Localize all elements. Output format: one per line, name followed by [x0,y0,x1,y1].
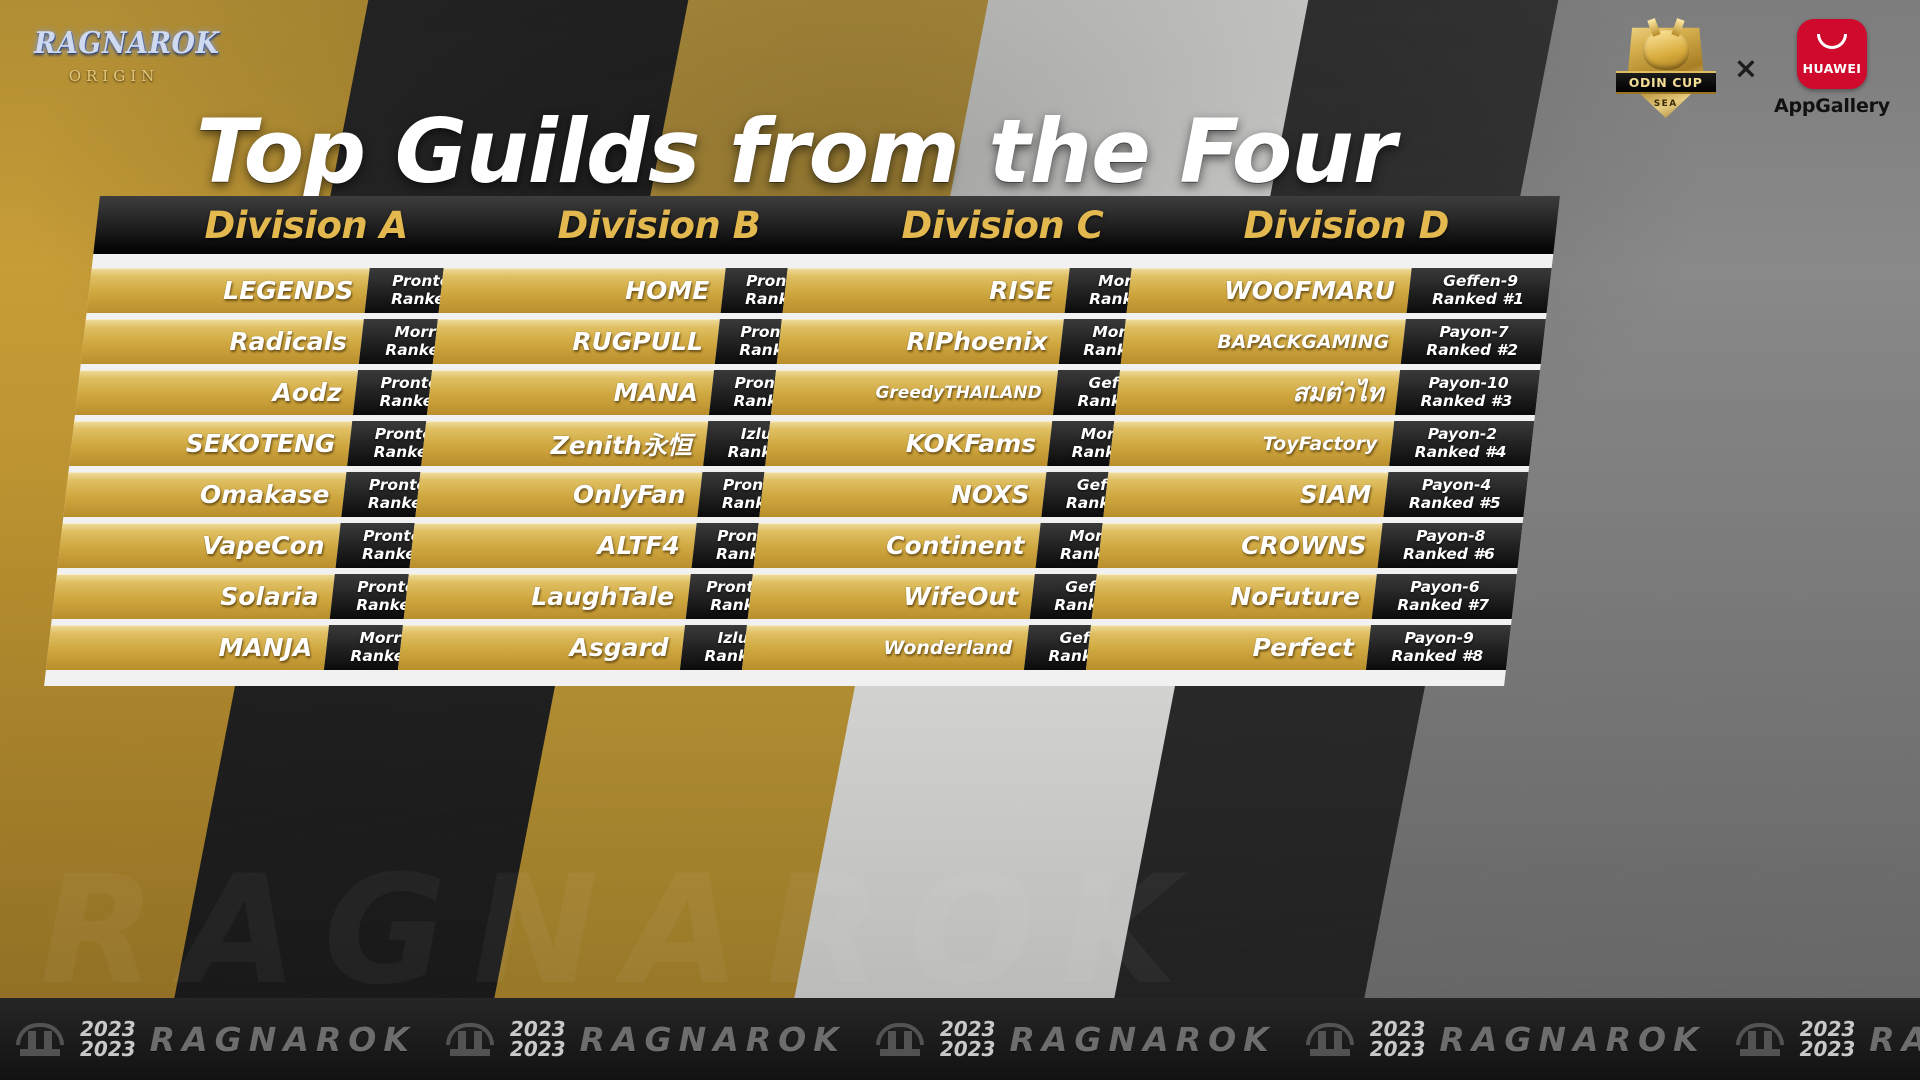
guild-row: NoFuturePayon-6Ranked #7 [1092,574,1517,619]
guild-row: PerfectPayon-9Ranked #8 [1086,625,1511,670]
footer-banner: 20232023RAGNAROK20232023RAGNAROK20232023… [0,998,1920,1080]
guild-name-cell: RUGPULL [433,319,720,364]
footer-years: 20232023 [1800,1019,1856,1059]
guild-name: LEGENDS [223,276,353,305]
footer-wordmark: RAGNAROK [1439,1020,1705,1059]
footer-wordmark: RAGNAROK [580,1020,846,1059]
guild-server: Payon-4 [1422,477,1491,494]
guild-name: GreedyTHAILAND [875,383,1041,403]
guild-name-cell: Asgard [398,625,685,670]
poster-root: RAGNAROK RAGNAROK ORIGIN ODIN CUP SEA × … [0,0,1920,1080]
guild-name: Radicals [230,327,348,356]
guild-name: ToyFactory [1263,433,1378,455]
footer-years: 20232023 [510,1019,566,1059]
guild-name-cell: KOKFams [765,421,1052,466]
guild-meta-cell: Payon-6Ranked #7 [1372,574,1517,619]
guild-name: LaughTale [532,582,675,611]
footer-year-top: 2023 [1370,1019,1426,1039]
guild-name-cell: SIAM [1103,472,1388,517]
guild-name: KOKFams [905,429,1035,458]
footer-year-bottom: 2023 [1800,1039,1856,1059]
guild-name-cell: ALTF4 [410,523,697,568]
footer-unit: 20232023RAGNAROK [1290,1019,1720,1059]
odin-cup-badge-icon: ODIN CUP SEA [1614,16,1718,120]
odin-mascot-icon [1643,30,1689,70]
guild-row: WOOFMARUGeffen-9Ranked #1 [1127,268,1552,313]
guild-row: CROWNSPayon-8Ranked #6 [1098,523,1523,568]
guild-name-cell: VapeCon [58,523,341,568]
guild-rank: Ranked #3 [1421,393,1513,410]
footer-years: 20232023 [1370,1019,1426,1059]
guild-rank: Ranked #8 [1392,648,1484,665]
guild-name-cell: Solaria [52,574,335,619]
guild-name: Omakase [200,480,330,509]
footer-year-top: 2023 [80,1019,136,1039]
guild-name: RUGPULL [573,327,704,356]
huawei-appgallery-logo: HUAWEI AppGallery [1774,19,1890,117]
guild-name: Zenith永恒 [551,426,692,462]
guild-name: VapeCon [202,531,324,560]
guild-name-cell: Radicals [81,319,364,364]
guild-row: SIAMPayon-4Ranked #5 [1103,472,1528,517]
guild-name-cell: BAPACKGAMING [1121,319,1406,364]
guild-name: ALTF4 [597,531,680,560]
guild-meta-cell: Payon-4Ranked #5 [1383,472,1528,517]
ragnarok-logo-wordmark: RAGNAROK [34,26,194,61]
guild-server: Payon-7 [1440,324,1509,341]
guild-server: Payon-10 [1428,375,1508,392]
division-b-title: Division B [557,204,760,247]
footer-year-bottom: 2023 [940,1039,996,1059]
guild-name-cell: Omakase [63,472,346,517]
guild-row: สมต่าไทPayon-10Ranked #3 [1115,370,1540,415]
guild-name-cell: GreedyTHAILAND [771,370,1058,415]
guild-meta-cell: Payon-2Ranked #4 [1389,421,1534,466]
guild-name: สมต่าไท [1292,373,1383,413]
huawei-label: HUAWEI [1803,61,1862,76]
guild-name: MANJA [219,633,313,662]
division-d-title: Division D [1244,204,1449,247]
ragnarok-emblem-icon [1304,1019,1356,1059]
footer-wordmark: RAGNAROK [1869,1020,1920,1059]
division-d-header: Division D [1133,196,1560,254]
guild-name-cell: LaughTale [404,574,691,619]
footer-year-top: 2023 [1800,1019,1856,1039]
guild-name: CROWNS [1241,531,1366,560]
division-column-d: Division D WOOFMARUGeffen-9Ranked #1BAPA… [1084,196,1560,686]
guild-name: Continent [886,531,1024,560]
guild-name-cell: Continent [754,523,1041,568]
guild-name-cell: WOOFMARU [1127,268,1412,313]
footer-wordmark: RAGNAROK [1009,1020,1275,1059]
ragnarok-logo-subtitle: ORIGIN [34,67,194,85]
guild-name: BAPACKGAMING [1217,331,1389,353]
footer-unit: 20232023RAGNAROK [430,1019,860,1059]
guild-row: ToyFactoryPayon-2Ranked #4 [1109,421,1534,466]
guild-meta-cell: Payon-9Ranked #8 [1366,625,1511,670]
division-c-title: Division C [902,204,1104,247]
division-d-rows: WOOFMARUGeffen-9Ranked #1BAPACKGAMINGPay… [1084,254,1553,686]
guild-name-cell: HOME [439,268,726,313]
guild-name-cell: OnlyFan [415,472,702,517]
guild-name: Wonderland [884,637,1013,659]
division-a-title: Division A [205,204,408,247]
guild-name: HOME [625,276,709,305]
huawei-tile-icon: HUAWEI [1797,19,1867,89]
guild-name: NoFuture [1231,582,1361,611]
guild-name-cell: WifeOut [748,574,1035,619]
ragnarok-emblem-icon [1734,1019,1786,1059]
guild-name: Perfect [1253,633,1355,662]
guild-rank: Ranked #2 [1426,342,1518,359]
guild-name-cell: LEGENDS [87,268,370,313]
guild-meta-cell: Geffen-9Ranked #1 [1407,268,1552,313]
footer-year-top: 2023 [940,1019,996,1039]
guild-name: WOOFMARU [1224,276,1395,305]
footer-year-bottom: 2023 [510,1039,566,1059]
divisions-container: Division A LEGENDSProntera-1Ranked #1Rad… [0,196,1920,876]
guild-name-cell: CROWNS [1098,523,1383,568]
footer-unit: 20232023RAGNAROK [860,1019,1290,1059]
guild-name-cell: RIPhoenix [777,319,1064,364]
guild-server: Geffen-9 [1443,273,1518,290]
guild-rank: Ranked #7 [1397,597,1489,614]
appgallery-label: AppGallery [1774,95,1890,117]
footer-year-bottom: 2023 [1370,1039,1426,1059]
guild-server: Payon-2 [1428,426,1497,443]
guild-name: Solaria [220,582,318,611]
guild-name-cell: SEKOTENG [69,421,352,466]
guild-name-cell: NOXS [759,472,1046,517]
odin-cup-ribbon: ODIN CUP [1616,71,1716,94]
footer-unit: 20232023RAGNAROK [0,1019,430,1059]
odin-cup-region-label: SEA [1614,99,1718,109]
guild-meta-cell: Payon-8Ranked #6 [1378,523,1523,568]
guild-name: SEKOTENG [186,429,336,458]
footer-wordmark: RAGNAROK [150,1020,416,1059]
appgallery-smile-icon [1817,34,1847,49]
guild-rank: Ranked #6 [1403,546,1495,563]
ragnarok-origin-logo: RAGNAROK ORIGIN [34,28,194,114]
guild-name: NOXS [951,480,1030,509]
guild-rank: Ranked #5 [1409,495,1501,512]
guild-name-cell: Zenith永恒 [421,421,708,466]
guild-name-cell: ToyFactory [1109,421,1394,466]
page-title: Top Guilds from the Four [196,100,1196,203]
guild-rank: Ranked #4 [1415,444,1507,461]
guild-row: BAPACKGAMINGPayon-7Ranked #2 [1121,319,1546,364]
ragnarok-emblem-icon [874,1019,926,1059]
ragnarok-emblem-icon [444,1019,496,1059]
footer-years: 20232023 [940,1019,996,1059]
guild-name-cell: NoFuture [1092,574,1377,619]
guild-name-cell: RISE [783,268,1070,313]
guild-name-cell: Perfect [1086,625,1371,670]
footer-year-bottom: 2023 [80,1039,136,1059]
guild-meta-cell: Payon-7Ranked #2 [1401,319,1546,364]
footer-year-top: 2023 [510,1019,566,1039]
guild-name: Asgard [569,633,668,662]
ragnarok-emblem-icon [14,1019,66,1059]
odin-cup-label: ODIN CUP [1629,75,1703,90]
guild-rank: Ranked #1 [1432,291,1524,308]
guild-name: WifeOut [903,582,1018,611]
guild-name: SIAM [1300,480,1372,509]
guild-name: RISE [990,276,1054,305]
guild-server: Payon-8 [1416,528,1485,545]
guild-name: MANA [613,378,698,407]
guild-meta-cell: Payon-10Ranked #3 [1395,370,1540,415]
guild-name: OnlyFan [573,480,686,509]
guild-name: Aodz [273,378,342,407]
collab-x-icon: × [1734,51,1758,85]
guild-name-cell: Wonderland [742,625,1029,670]
guild-name: RIPhoenix [906,327,1047,356]
partner-logos: ODIN CUP SEA × HUAWEI AppGallery [1614,16,1890,120]
guild-name-cell: สมต่าไท [1115,370,1400,415]
guild-server: Payon-6 [1411,579,1480,596]
guild-server: Payon-9 [1405,630,1474,647]
guild-name-cell: MANA [427,370,714,415]
guild-name-cell: Aodz [75,370,358,415]
footer-unit: 20232023RAGNAROK [1720,1019,1920,1059]
guild-name-cell: MANJA [46,625,329,670]
footer-years: 20232023 [80,1019,136,1059]
